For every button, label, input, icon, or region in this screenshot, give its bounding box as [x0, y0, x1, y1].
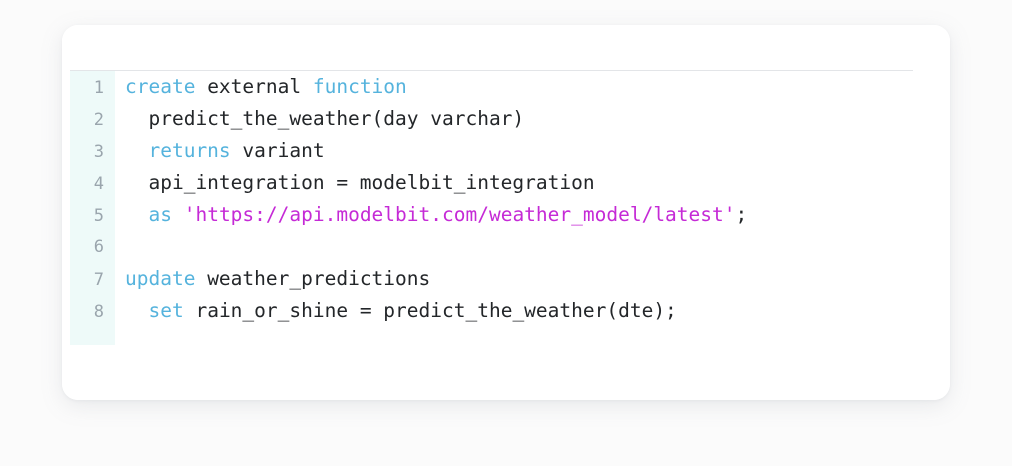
line-number: 4	[70, 168, 115, 200]
code-line-list: 1create external function2 predict_the_w…	[70, 71, 950, 327]
code-line-content: set rain_or_shine = predict_the_weather(…	[115, 295, 950, 327]
line-number: 6	[70, 231, 115, 263]
code-token-plain: ;	[736, 203, 748, 226]
line-number: 1	[70, 72, 115, 104]
code-line-content: as 'https://api.modelbit.com/weather_mod…	[115, 199, 950, 231]
code-token-kw: create	[125, 75, 195, 98]
code-token-kw: set	[148, 299, 183, 322]
code-line[interactable]: 7update weather_predictions	[70, 263, 950, 295]
code-token-kw: update	[125, 267, 195, 290]
code-line-content: create external function	[115, 71, 950, 103]
code-line[interactable]: 4 api_integration = modelbit_integration	[70, 167, 950, 199]
code-line[interactable]: 6	[70, 231, 950, 263]
line-number: 8	[70, 296, 115, 328]
code-token-plain: external	[195, 75, 312, 98]
code-snippet-card: 1create external function2 predict_the_w…	[62, 25, 950, 400]
code-line[interactable]: 8 set rain_or_shine = predict_the_weathe…	[70, 295, 950, 327]
code-line[interactable]: 2 predict_the_weather(day varchar)	[70, 103, 950, 135]
card-header	[62, 25, 950, 70]
code-token-plain	[172, 203, 184, 226]
line-number: 5	[70, 200, 115, 232]
code-editor[interactable]: 1create external function2 predict_the_w…	[62, 71, 950, 400]
line-number: 3	[70, 136, 115, 168]
code-line[interactable]: 5 as 'https://api.modelbit.com/weather_m…	[70, 199, 950, 231]
code-token-plain	[125, 299, 148, 322]
code-line[interactable]: 3 returns variant	[70, 135, 950, 167]
code-token-plain: predict_the_weather(day varchar)	[125, 107, 524, 130]
code-line-content: update weather_predictions	[115, 263, 950, 295]
code-token-kw: as	[148, 203, 171, 226]
code-token-plain	[125, 203, 148, 226]
code-token-kw: returns	[148, 139, 230, 162]
code-line-content: returns variant	[115, 135, 950, 167]
code-token-kw: function	[313, 75, 407, 98]
code-token-plain: rain_or_shine = predict_the_weather(dte)…	[184, 299, 677, 322]
code-line-content: api_integration = modelbit_integration	[115, 167, 950, 199]
line-number: 2	[70, 104, 115, 136]
code-line[interactable]: 1create external function	[70, 71, 950, 103]
code-token-plain	[125, 139, 148, 162]
code-token-plain: weather_predictions	[195, 267, 430, 290]
code-token-str: 'https://api.modelbit.com/weather_model/…	[184, 203, 736, 226]
code-token-plain: variant	[231, 139, 325, 162]
code-line-content: predict_the_weather(day varchar)	[115, 103, 950, 135]
line-number: 7	[70, 264, 115, 296]
code-token-plain: api_integration = modelbit_integration	[125, 171, 595, 194]
